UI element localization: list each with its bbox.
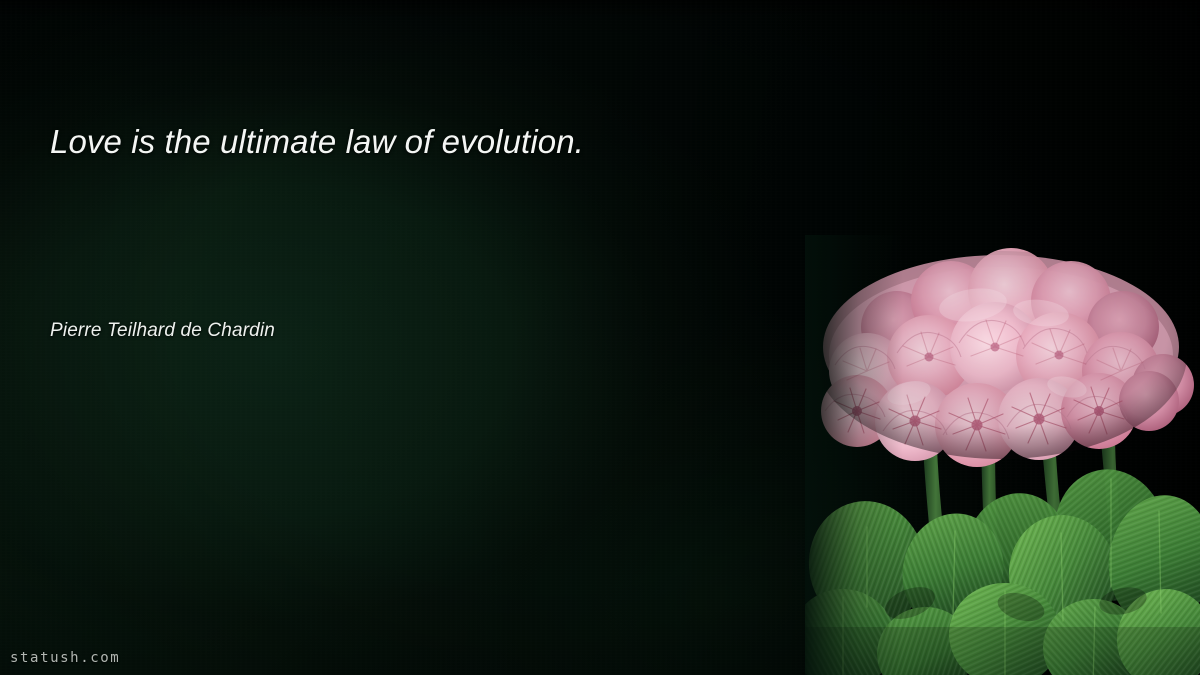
quote-text: Love is the ultimate law of evolution. — [50, 120, 584, 164]
plant-drop-shadow — [780, 215, 1200, 675]
quote-author: Pierre Teilhard de Chardin — [50, 320, 275, 342]
site-watermark: statush.com — [10, 650, 120, 666]
quote-card: Love is the ultimate law of evolution. P… — [0, 0, 1200, 675]
